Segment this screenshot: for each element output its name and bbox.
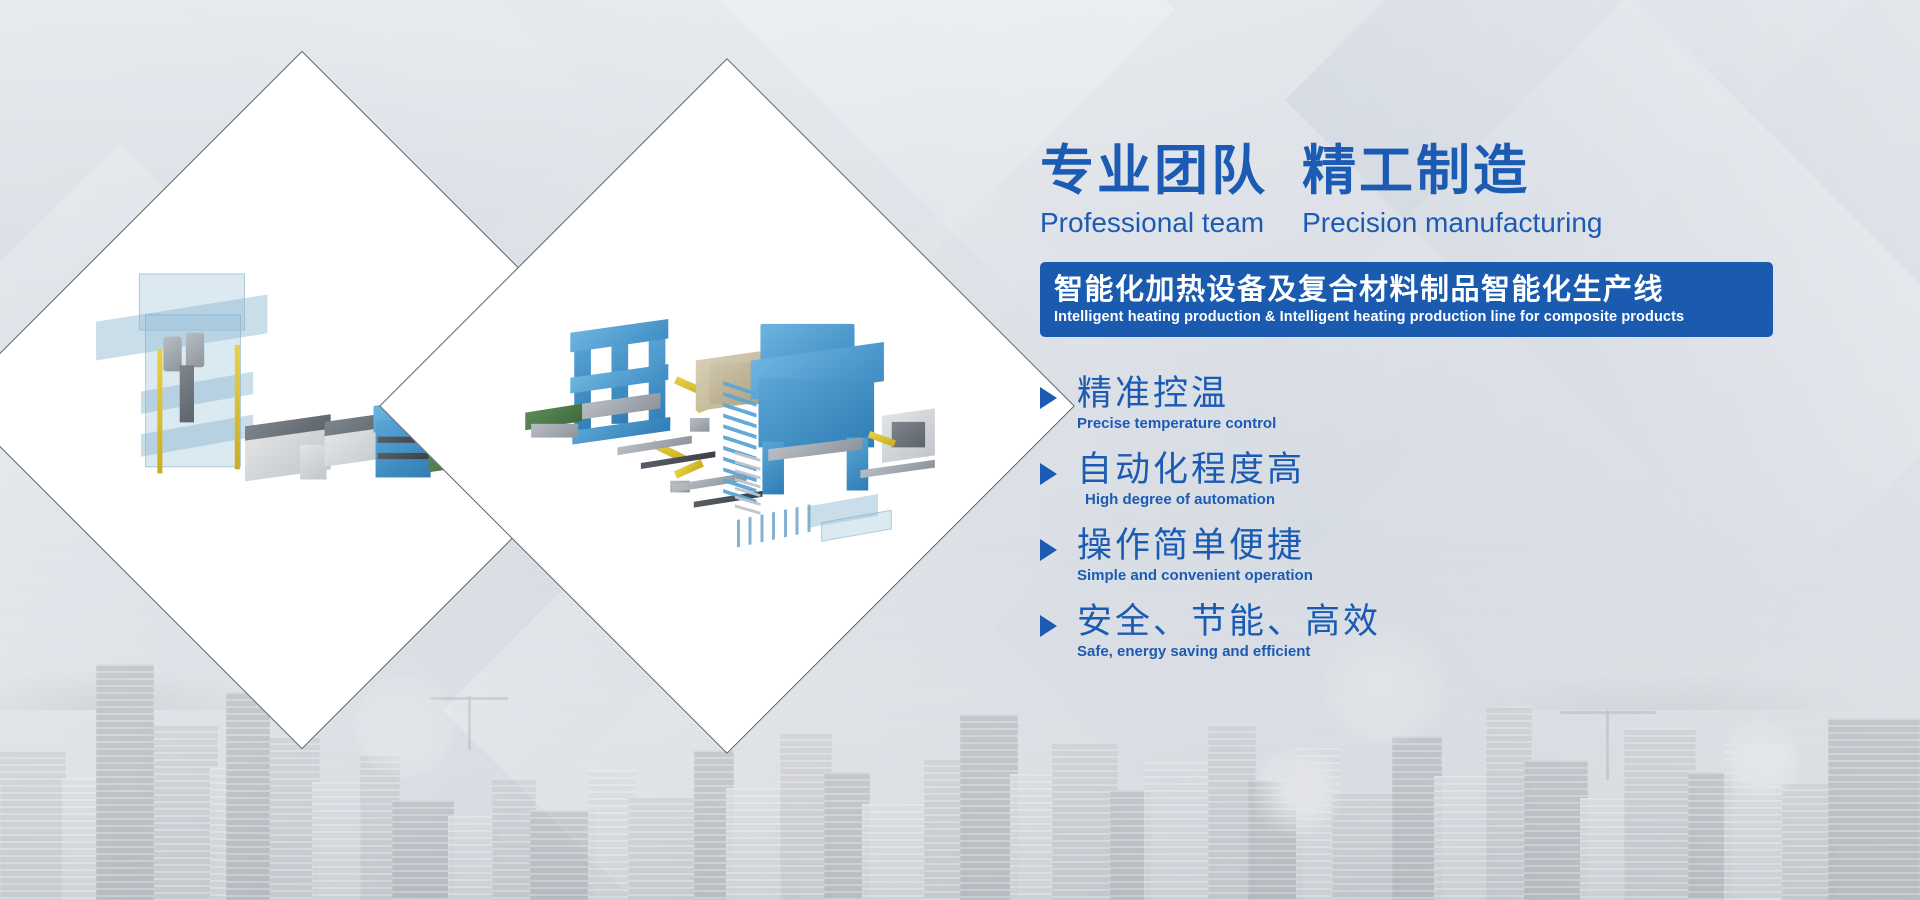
feature-label-en: Safe, energy saving and efficient bbox=[1077, 642, 1381, 661]
building bbox=[628, 796, 702, 900]
feature-label-cn: 操作简单便捷 bbox=[1077, 526, 1305, 566]
headline-cn-right: 精工制造 bbox=[1302, 140, 1530, 202]
lens-flare bbox=[1718, 718, 1804, 804]
press-guide-rail bbox=[235, 345, 240, 469]
press-guide-rail bbox=[157, 349, 162, 473]
feature-list: 精准控温 Precise temperature control 自动化程度高 … bbox=[1040, 373, 1830, 661]
access-ladder bbox=[735, 452, 760, 520]
headline-en-right: Precision manufacturing bbox=[1302, 206, 1602, 240]
feature-text: 操作简单便捷 Simple and convenient operation bbox=[1077, 525, 1313, 585]
triangle-right-icon bbox=[1040, 387, 1057, 409]
triangle-right-icon bbox=[1040, 615, 1057, 637]
feature-item: 操作简单便捷 Simple and convenient operation bbox=[1040, 525, 1830, 585]
headline-subtitle: Professional team Precision manufacturin… bbox=[1040, 206, 1830, 240]
output-rail bbox=[860, 460, 934, 478]
feature-text: 安全、节能、高效 Safe, energy saving and efficie… bbox=[1077, 601, 1381, 661]
building bbox=[862, 804, 932, 900]
feature-text: 精准控温 Precise temperature control bbox=[1077, 373, 1276, 433]
triangle-right-icon bbox=[1040, 463, 1057, 485]
headline-en-left: Professional team bbox=[1040, 206, 1264, 240]
building bbox=[1524, 760, 1588, 900]
feature-label-cn: 精准控温 bbox=[1077, 374, 1229, 414]
feature-label-en: High degree of automation bbox=[1077, 490, 1305, 509]
building bbox=[1624, 728, 1696, 900]
feature-label-en: Precise temperature control bbox=[1077, 414, 1276, 433]
construction-crane bbox=[468, 696, 471, 750]
building bbox=[1434, 776, 1494, 900]
control-cabinet bbox=[300, 445, 327, 480]
building bbox=[392, 800, 454, 900]
diamond-2-content bbox=[482, 161, 972, 651]
feature-item: 精准控温 Precise temperature control bbox=[1040, 373, 1830, 433]
building bbox=[96, 664, 154, 900]
building bbox=[1144, 762, 1216, 900]
content-column: 专业团队 精工制造 Professional team Precision ma… bbox=[1040, 140, 1830, 677]
product-banner: 智能化加热设备及复合材料制品智能化生产线 Intelligent heating… bbox=[1040, 262, 1773, 337]
feature-label-cn: 自动化程度高 bbox=[1077, 450, 1305, 490]
cabinet-panel bbox=[892, 422, 925, 447]
press-cylinder bbox=[186, 333, 204, 368]
banner-stage: 专业团队 精工制造 Professional team Precision ma… bbox=[0, 0, 1920, 900]
building bbox=[0, 750, 66, 900]
headline: 专业团队 精工制造 bbox=[1040, 140, 1830, 202]
robot-base bbox=[690, 418, 710, 432]
banner-title-en: Intelligent heating production & Intelli… bbox=[1054, 308, 1759, 327]
banner-title-cn: 智能化加热设备及复合材料制品智能化生产线 bbox=[1054, 271, 1759, 307]
building bbox=[226, 692, 270, 900]
lens-flare bbox=[1250, 744, 1346, 840]
building bbox=[530, 810, 596, 900]
lens-flare bbox=[350, 672, 460, 782]
press-ram bbox=[180, 365, 194, 422]
construction-crane bbox=[1606, 710, 1609, 780]
table-shelf bbox=[378, 453, 429, 459]
triangle-right-icon bbox=[1040, 539, 1057, 561]
feature-label-en: Simple and convenient operation bbox=[1077, 566, 1313, 585]
building bbox=[1828, 718, 1920, 900]
headline-cn-left: 专业团队 bbox=[1040, 140, 1268, 202]
feature-item: 安全、节能、高效 Safe, energy saving and efficie… bbox=[1040, 601, 1830, 661]
conveyor-legs bbox=[531, 424, 578, 438]
building bbox=[726, 788, 788, 900]
composite-production-line-illustration bbox=[527, 269, 939, 563]
feature-label-cn: 安全、节能、高效 bbox=[1077, 602, 1381, 642]
feature-item: 自动化程度高 High degree of automation bbox=[1040, 449, 1830, 509]
feature-text: 自动化程度高 High degree of automation bbox=[1077, 449, 1305, 509]
building bbox=[1052, 742, 1118, 900]
